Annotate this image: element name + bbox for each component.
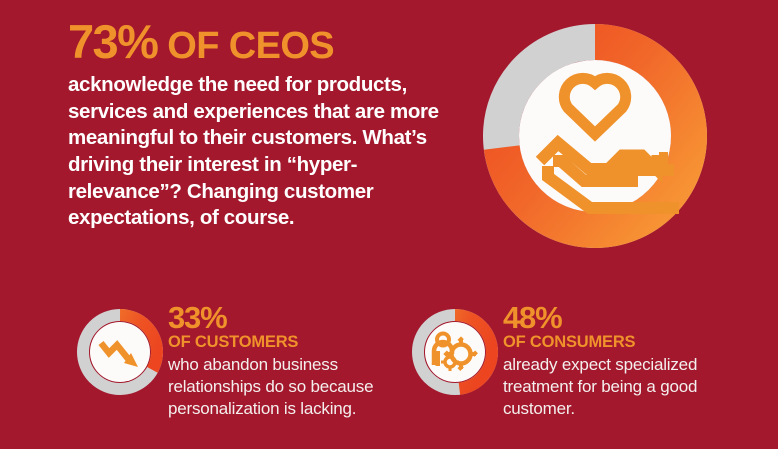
stat-description-33: who abandon business relationships do so… (168, 354, 383, 420)
stat-value-33: 33% (168, 303, 383, 333)
stat-value-48: 48% (503, 303, 721, 333)
hero-stat-value: 73% (68, 15, 157, 68)
stat-label-33: OF CUSTOMERS (168, 334, 383, 351)
stat-block-48: 48% OF CONSUMERS already expect speciali… (503, 303, 721, 420)
donut-chart-73 (483, 24, 707, 248)
hero-headline: 73% OF CEOS (68, 18, 468, 65)
hero-text-block: 73% OF CEOS acknowledge the need for pro… (68, 18, 468, 232)
hero-stat-label: OF CEOS (157, 25, 334, 67)
stat-block-33: 33% OF CUSTOMERS who abandon business re… (168, 303, 383, 420)
stat-label-48: OF CONSUMERS (503, 334, 721, 351)
donut-chart-33 (75, 307, 165, 397)
donut-chart-48 (410, 307, 500, 397)
hero-body-text: acknowledge the need for products, servi… (68, 72, 468, 232)
infographic-canvas: 73% OF CEOS acknowledge the need for pro… (0, 0, 778, 449)
stat-description-48: already expect specialized treatment for… (503, 354, 721, 420)
